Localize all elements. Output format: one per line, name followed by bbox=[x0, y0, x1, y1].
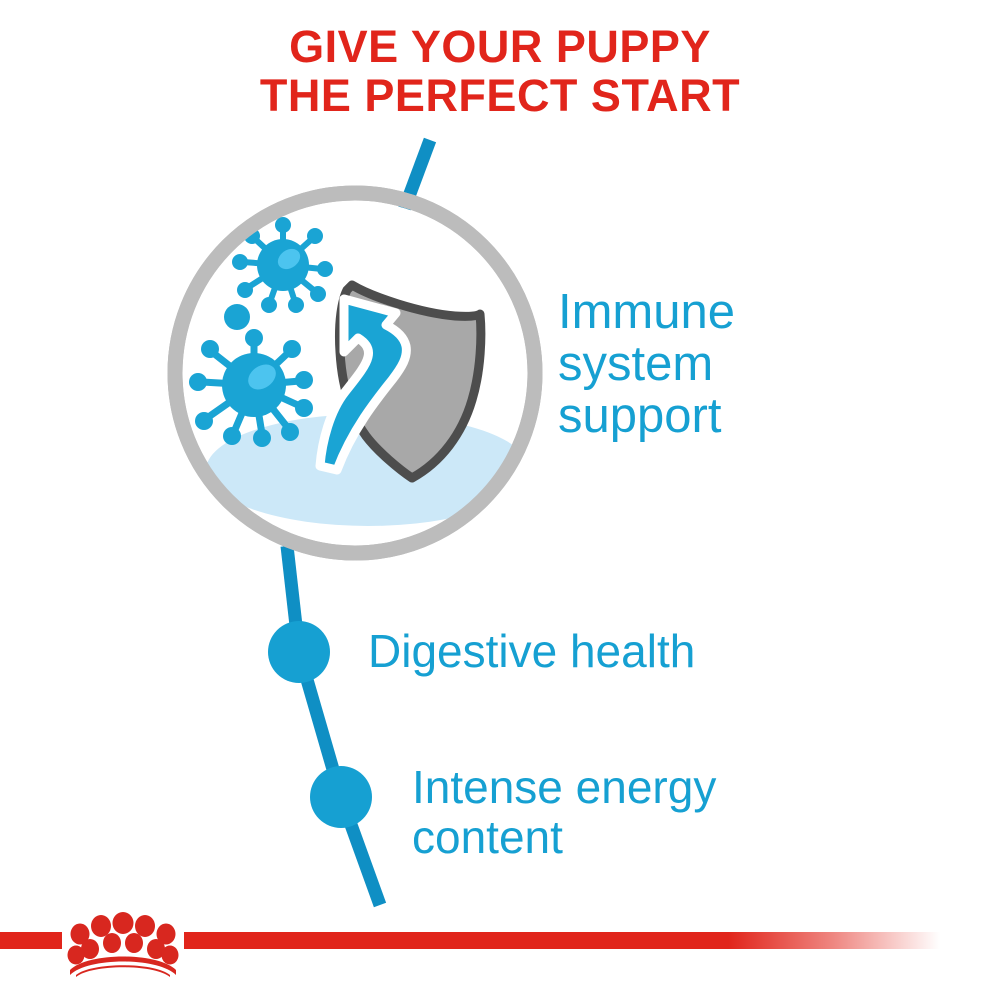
footer-bar-right bbox=[184, 932, 940, 949]
poster-canvas: GIVE YOUR PUPPY THE PERFECT START bbox=[0, 0, 1000, 1000]
connector-node-energy bbox=[310, 766, 372, 828]
benefit-label-digestive-health: Digestive health bbox=[368, 627, 695, 677]
benefit-line: content bbox=[412, 812, 716, 862]
benefit-label-intense-energy-content: Intense energy content bbox=[412, 762, 716, 862]
royal-canin-crown-logo bbox=[62, 905, 184, 977]
footer-bar-left bbox=[0, 932, 62, 949]
connector-node-digestive bbox=[268, 621, 330, 683]
benefit-label-immune-system-support: Immune system support bbox=[558, 286, 735, 442]
benefit-line: Digestive health bbox=[368, 627, 695, 677]
benefit-line: Intense energy bbox=[412, 762, 716, 812]
benefit-line: system bbox=[558, 338, 735, 390]
virus-dot-small bbox=[224, 304, 250, 330]
benefit-line: support bbox=[558, 390, 735, 442]
benefit-line: Immune bbox=[558, 286, 735, 338]
